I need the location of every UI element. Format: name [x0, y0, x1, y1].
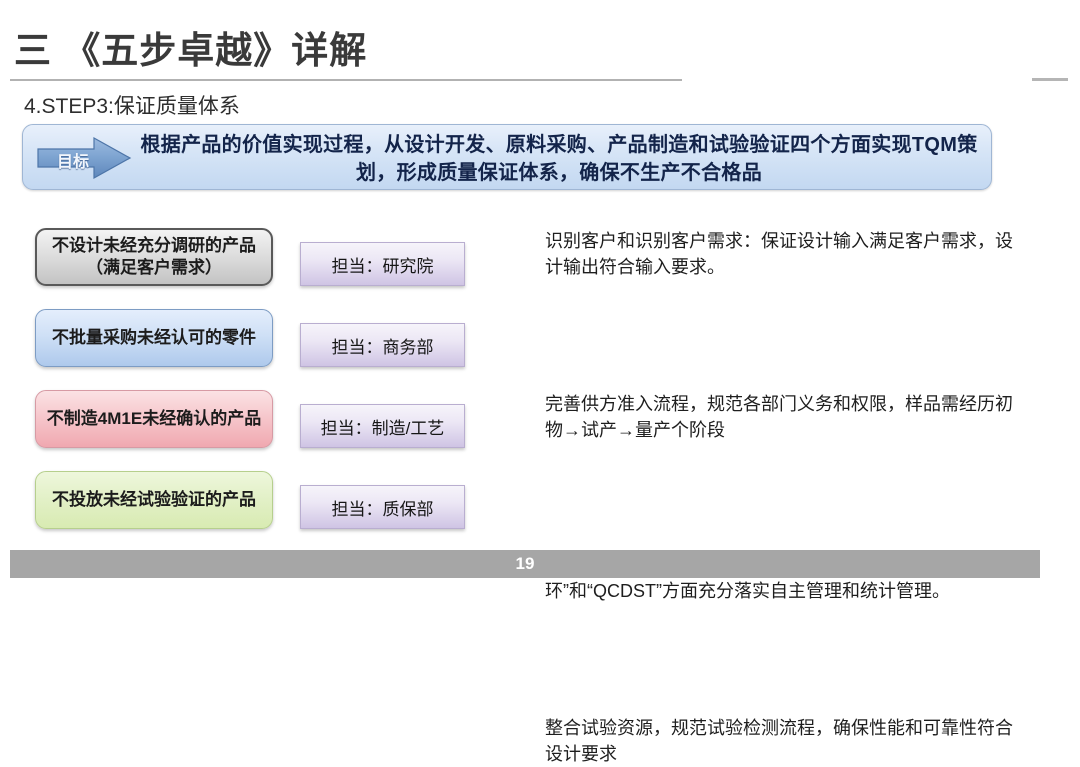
rules-grid: 不设计未经充分调研的产品（满足客户需求） 担当：研究院 识别客户和识别客户需求：…	[0, 220, 1080, 544]
title-divider	[10, 79, 682, 81]
owner-box-3: 担当：制造/工艺	[300, 404, 465, 448]
owner-box-2: 担当：商务部	[300, 323, 465, 367]
rule-box-2: 不批量采购未经认可的零件	[35, 309, 273, 367]
page-number: 19	[10, 550, 1040, 578]
table-row: 不批量采购未经认可的零件 担当：商务部 完善供方准入流程，规范各部门义务和权限，…	[0, 301, 1080, 382]
page-title: 三 《五步卓越》详解	[14, 31, 367, 72]
rule-box-3: 不制造4M1E未经确认的产品	[35, 390, 273, 448]
owner-box-1: 担当：研究院	[300, 242, 465, 286]
rule-box-1: 不设计未经充分调研的产品（满足客户需求）	[35, 228, 273, 286]
description-4: 整合试验资源，规范试验检测流程，确保性能和可靠性符合设计要求	[545, 715, 1015, 767]
rule-box-4: 不投放未经试验验证的产品	[35, 471, 273, 529]
table-row: 不制造4M1E未经确认的产品 担当：制造/工艺 以TQM和过程能力保证为基础，从…	[0, 382, 1080, 463]
footer-bar: 19	[10, 550, 1040, 578]
owner-box-4: 担当：质保部	[300, 485, 465, 529]
section-subtitle: 4.STEP3:保证质量体系	[24, 90, 240, 120]
right-arrow-icon	[36, 136, 132, 180]
description-1: 识别客户和识别客户需求：保证设计输入满足客户需求，设计输出符合输入要求。	[545, 228, 1015, 280]
goal-statement: 根据产品的价值实现过程，从设计开发、原料采购、产品制造和试验验证四个方面实现TQ…	[140, 131, 978, 188]
table-row: 不投放未经试验验证的产品 担当：质保部 整合试验资源，规范试验检测流程，确保性能…	[0, 463, 1080, 544]
corner-accent-line	[1032, 78, 1068, 81]
table-row: 不设计未经充分调研的产品（满足客户需求） 担当：研究院 识别客户和识别客户需求：…	[0, 220, 1080, 301]
